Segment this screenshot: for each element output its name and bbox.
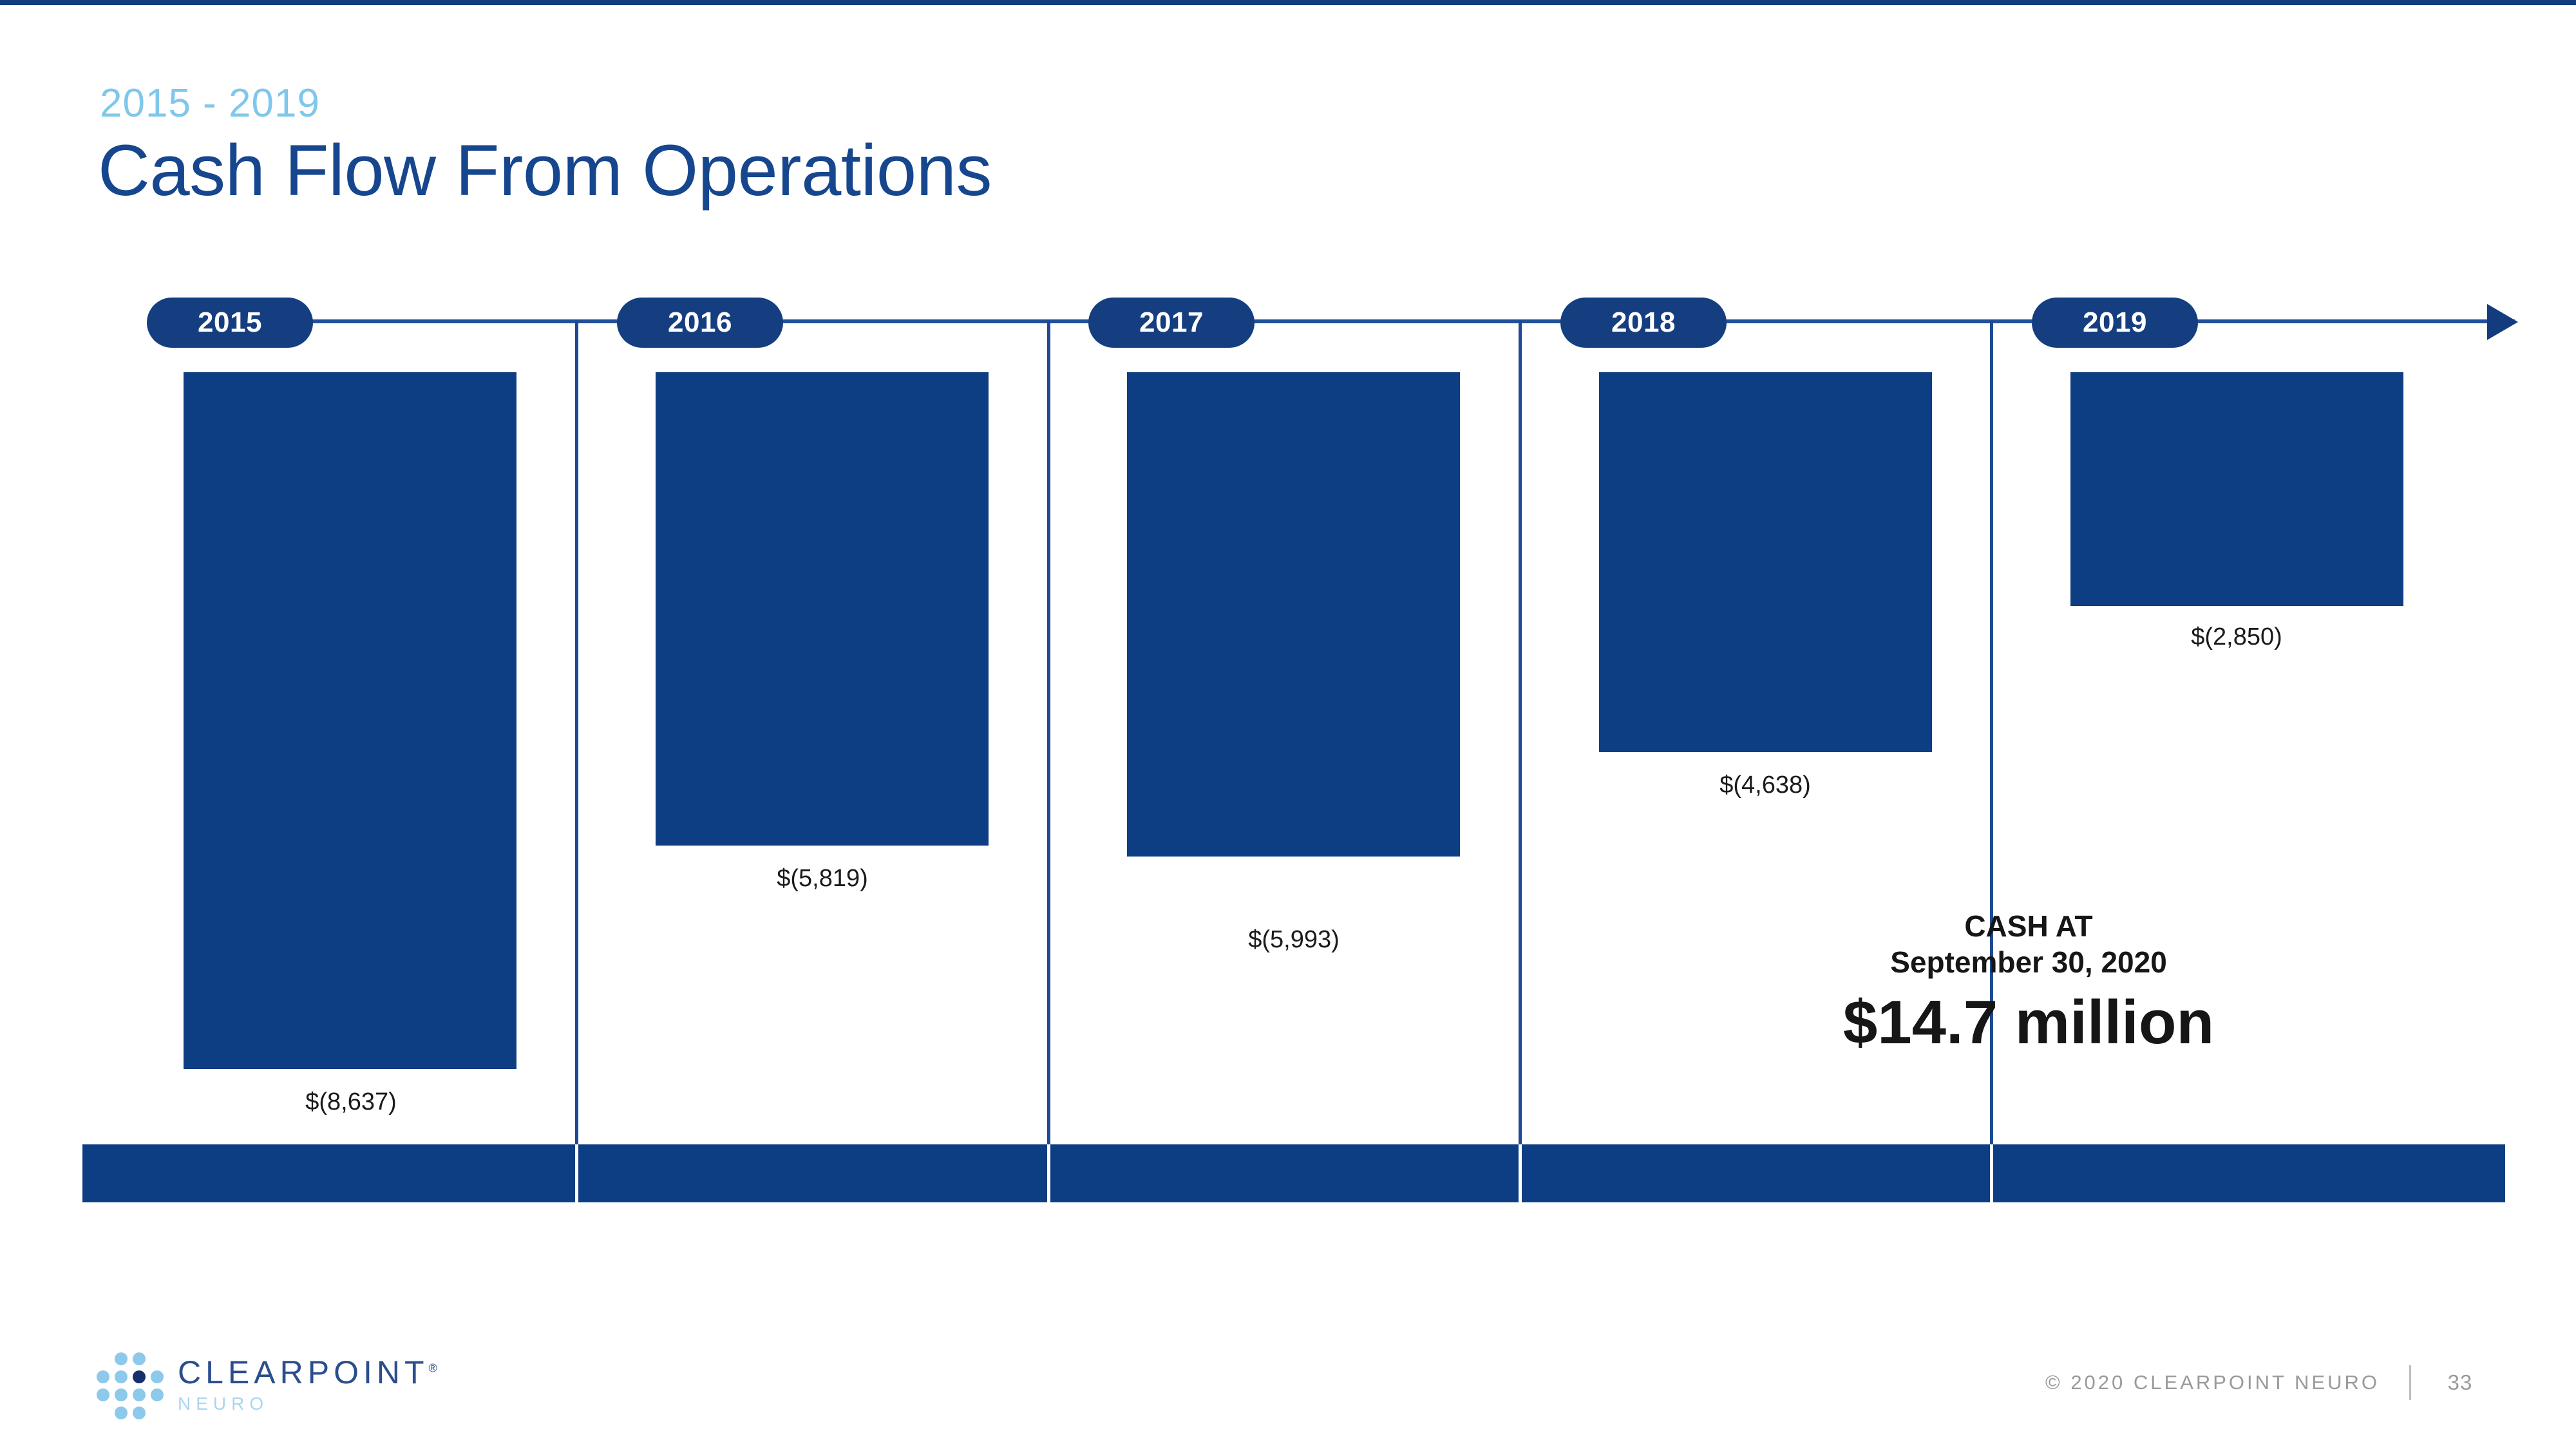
- bar-label-2015: $(8,637): [305, 1088, 397, 1116]
- band-notch-4: [1990, 1144, 1993, 1202]
- bar-2017: [1127, 372, 1460, 857]
- column-divider-2: [1047, 319, 1050, 1144]
- bar-2019: [2070, 372, 2403, 606]
- page-number: 33: [2441, 1370, 2479, 1395]
- logo-dot: [115, 1352, 128, 1365]
- cash-callout-line-1: CASH AT: [1803, 908, 2254, 944]
- bar-2018: [1599, 372, 1932, 752]
- page-title: Cash Flow From Operations: [98, 129, 992, 212]
- bottom-accent-band: [82, 1144, 2505, 1202]
- logo-dot: [133, 1406, 146, 1419]
- band-notch-3: [1519, 1144, 1522, 1202]
- band-notch-1: [575, 1144, 578, 1202]
- right-arrow-icon: [2487, 304, 2518, 340]
- bar-label-2016: $(5,819): [777, 865, 868, 893]
- bar-label-2019: $(2,850): [2191, 623, 2282, 651]
- copyright-text: © 2020 CLEARPOINT NEURO: [2045, 1371, 2380, 1394]
- logo-dot: [115, 1406, 128, 1419]
- cash-callout-line-2: September 30, 2020: [1803, 944, 2254, 980]
- bar-2016: [656, 372, 989, 846]
- slide-eyebrow-date-range: 2015 - 2019: [100, 80, 320, 126]
- bar-2015: [184, 372, 516, 1069]
- top-accent-rule: [0, 0, 2576, 5]
- band-notch-2: [1047, 1144, 1050, 1202]
- year-pill-2015[interactable]: 2015: [147, 298, 313, 348]
- footer-divider: [2409, 1365, 2411, 1400]
- cash-callout-amount: $14.7 million: [1803, 984, 2254, 1061]
- cash-callout: CASH AT September 30, 2020 $14.7 million: [1803, 908, 2254, 1061]
- bar-label-2018: $(4,638): [1719, 772, 1811, 799]
- year-pill-2016[interactable]: 2016: [617, 298, 783, 348]
- year-pill-2019[interactable]: 2019: [2032, 298, 2198, 348]
- year-pill-2018[interactable]: 2018: [1560, 298, 1727, 348]
- logo-dot: [133, 1352, 146, 1365]
- footer-right: © 2020 CLEARPOINT NEURO 33: [0, 1365, 2576, 1400]
- bar-label-2017: $(5,993): [1248, 926, 1340, 954]
- column-divider-3: [1519, 319, 1522, 1144]
- column-divider-1: [575, 319, 578, 1144]
- year-pill-2017[interactable]: 2017: [1088, 298, 1255, 348]
